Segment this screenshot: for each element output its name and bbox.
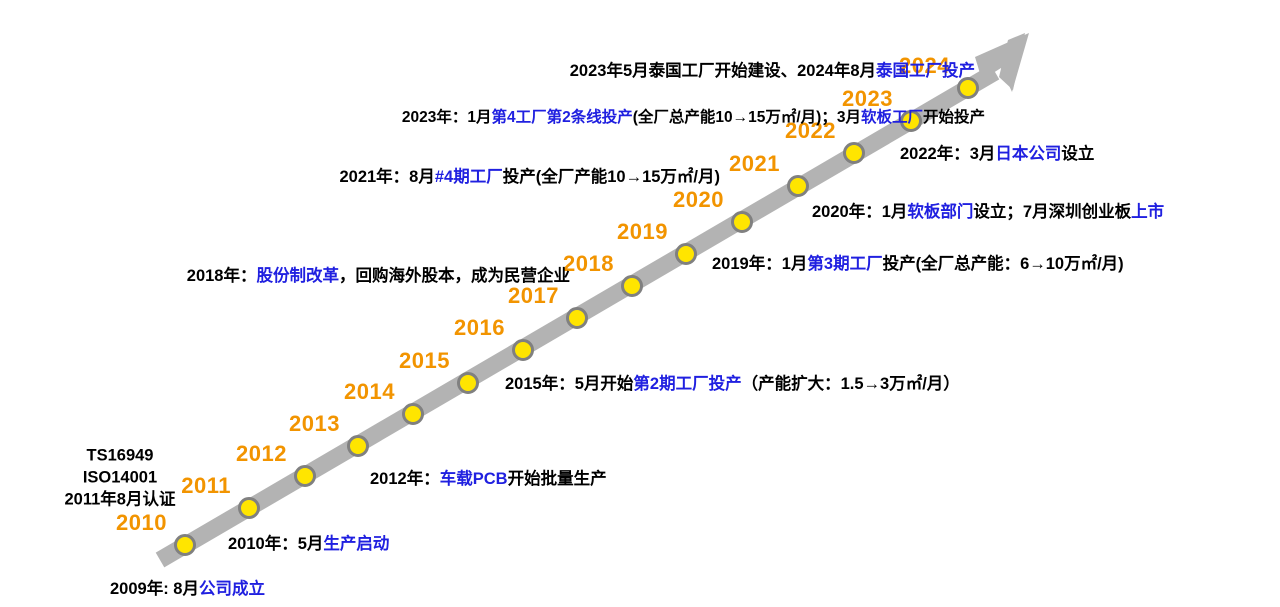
note-highlight-text: 生产启动 <box>323 535 389 553</box>
timeline-node-2011[interactable] <box>238 497 260 519</box>
year-label-2013: 2013 <box>289 411 340 437</box>
note-2021: 2021年：8月#4期工厂投产(全厂产能10→15万㎡/月) <box>339 167 720 189</box>
year-label-2020: 2020 <box>673 187 724 213</box>
timeline-node-2021[interactable] <box>787 175 809 197</box>
note-plain-text: 2020年：1月 <box>812 203 907 221</box>
note-plain-text: 投产(全厂总产能：6→10万㎡/月) <box>883 255 1124 273</box>
note-plain-text: （产能扩大：1.5→3万㎡/月） <box>742 375 960 393</box>
year-label-2015: 2015 <box>399 348 450 374</box>
timeline-node-2015[interactable] <box>457 372 479 394</box>
note-2010: 2010年：5月生产启动 <box>228 534 389 556</box>
note-2020: 2020年：1月软板部门设立；7月深圳创业板上市 <box>812 202 1164 224</box>
note-highlight-text: 股份制改革 <box>257 267 340 285</box>
year-label-2018: 2018 <box>563 251 614 277</box>
note-highlight-text: 车载PCB <box>440 470 508 488</box>
note-highlight-text: #4期工厂 <box>435 168 503 186</box>
note-plain-text: (全厂总产能10→15万㎡/月)；3月 <box>633 109 861 126</box>
note-highlight-text: 公司成立 <box>199 580 265 598</box>
year-label-2011: 2011 <box>181 473 231 499</box>
note-highlight-text: 泰国工厂投产 <box>876 62 975 80</box>
note-highlight-text: 软板工厂 <box>861 109 923 126</box>
note-plain-text: 投产(全厂产能10→15万㎡/月) <box>503 168 720 186</box>
note-plain-text: 2023年：1月 <box>402 109 492 126</box>
note-plain-text: 2019年：1月 <box>712 255 807 273</box>
note-2018: 2018年：股份制改革，回购海外股本，成为民营企业 <box>187 266 570 288</box>
note-plain-text: 2009年: 8月 <box>110 580 199 598</box>
note-highlight-text: 第4工厂第2条线投产 <box>491 109 632 126</box>
note-plain-text: 设立 <box>1061 145 1094 163</box>
note-2023: 2023年：1月第4工厂第2条线投产(全厂总产能10→15万㎡/月)；3月软板工… <box>402 108 985 128</box>
note-plain-text: 设立；7月深圳创业板 <box>973 203 1131 221</box>
timeline-node-2013[interactable] <box>347 435 369 457</box>
note-highlight-text: 第3期工厂 <box>807 255 882 273</box>
note-plain-text: 开始投产 <box>923 109 985 126</box>
note-line: 2011年8月认证 <box>65 489 176 511</box>
note-line: TS16949 <box>65 445 176 467</box>
year-label-2010: 2010 <box>116 510 167 536</box>
note-plain-text: 2018年： <box>187 267 257 285</box>
timeline-diagram: 2010201120122013201420152016201720182019… <box>0 0 1280 607</box>
note-plain-text: 开始批量生产 <box>508 470 607 488</box>
note-plain-text: 2015年：5月开始 <box>505 375 633 393</box>
year-label-2021: 2021 <box>729 151 780 177</box>
note-plain-text: 2010年：5月 <box>228 535 323 553</box>
timeline-node-2016[interactable] <box>512 339 534 361</box>
note-plain-text: 2022年：3月 <box>900 145 995 163</box>
note-highlight-text: 第2期工厂投产 <box>633 375 741 393</box>
note-cert-2011: TS16949ISO140012011年8月认证 <box>65 445 176 510</box>
note-2024: 2023年5月泰国工厂开始建设、2024年8月泰国工厂投产 <box>570 61 975 83</box>
year-label-2014: 2014 <box>344 379 395 405</box>
timeline-node-2019[interactable] <box>675 243 697 265</box>
timeline-node-2017[interactable] <box>566 307 588 329</box>
note-2015: 2015年：5月开始第2期工厂投产（产能扩大：1.5→3万㎡/月） <box>505 374 960 396</box>
note-2019: 2019年：1月第3期工厂投产(全厂总产能：6→10万㎡/月) <box>712 254 1124 276</box>
note-2022: 2022年：3月日本公司设立 <box>900 144 1094 166</box>
note-plain-text: 2012年： <box>370 470 440 488</box>
timeline-node-2014[interactable] <box>402 403 424 425</box>
year-label-2012: 2012 <box>236 441 287 467</box>
timeline-node-2022[interactable] <box>843 142 865 164</box>
timeline-node-2018[interactable] <box>621 275 643 297</box>
year-label-2019: 2019 <box>617 219 668 245</box>
note-highlight-text: 上市 <box>1131 203 1164 221</box>
timeline-node-2012[interactable] <box>294 465 316 487</box>
note-2009: 2009年: 8月公司成立 <box>110 579 265 601</box>
note-highlight-text: 软板部门 <box>907 203 973 221</box>
note-plain-text: 2023年5月泰国工厂开始建设、2024年8月 <box>570 62 876 80</box>
note-2012: 2012年：车载PCB开始批量生产 <box>370 469 607 491</box>
note-plain-text: ，回购海外股本，成为民营企业 <box>339 267 570 285</box>
timeline-node-2020[interactable] <box>731 211 753 233</box>
note-plain-text: 2021年：8月 <box>339 168 434 186</box>
note-highlight-text: 日本公司 <box>995 145 1061 163</box>
timeline-node-2010[interactable] <box>174 534 196 556</box>
year-label-2016: 2016 <box>454 315 505 341</box>
note-line: ISO14001 <box>65 467 176 489</box>
timeline-track <box>0 0 1280 607</box>
